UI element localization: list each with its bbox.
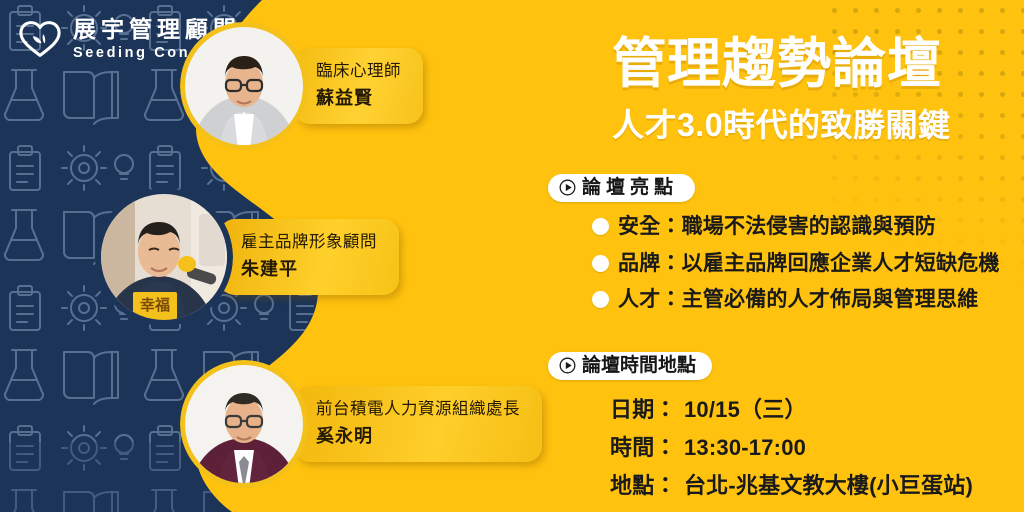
speaker-name-2: 朱建平 — [241, 258, 377, 282]
highlights-list: 安全：職場不法侵害的認識與預防 品牌：以雇主品牌回應企業人才短缺危機 人才：主管… — [548, 211, 1000, 316]
speaker-nameplate-1: 臨床心理師 蘇益賢 — [294, 48, 423, 125]
svg-text:幸福: 幸福 — [140, 296, 170, 314]
title-block: 管理趨勢論壇 人才3.0時代的致勝關鍵 — [612, 36, 1024, 146]
time-label: 時間： — [610, 430, 684, 462]
date-value: 10/15（三） — [684, 392, 807, 424]
highlight-item: 品牌：以雇主品牌回應企業人才短缺危機 — [592, 248, 1000, 280]
page-subtitle: 人才3.0時代的致勝關鍵 — [612, 100, 1024, 146]
highlight-text: 人才：主管必備的人才佈局與管理思維 — [618, 284, 978, 316]
speaker-nameplate-3: 前台積電人力資源組織處長 奚永明 — [294, 386, 542, 463]
venue-label: 地點： — [610, 468, 684, 500]
event-info-list: 日期： 10/15（三） 時間： 13:30-17:00 地點： 台北-兆基文教… — [548, 392, 973, 500]
play-circle-icon — [559, 357, 576, 374]
event-info-row-date: 日期： 10/15（三） — [610, 392, 973, 424]
speaker-photo-2: 幸福 — [95, 188, 233, 326]
speaker-card-3: 前台積電人力資源組織處長 奚永明 — [180, 360, 542, 488]
bullet-dot-icon — [592, 291, 609, 308]
speaker-role-3: 前台積電人力資源組織處長 — [316, 399, 520, 421]
speaker-card-2: 幸福 雇主品牌形象顧問 朱建平 — [95, 188, 399, 326]
speaker-card-1: 臨床心理師 蘇益賢 — [180, 22, 423, 150]
when-where-heading-pill: 論壇時間地點 — [548, 352, 712, 380]
speaker-photo-1 — [180, 22, 308, 150]
event-info-row-venue: 地點： 台北-兆基文教大樓 (小巨蛋站) — [610, 468, 973, 500]
time-value: 13:30-17:00 — [684, 435, 806, 461]
page-title: 管理趨勢論壇 — [612, 36, 1024, 92]
bullet-dot-icon — [592, 218, 609, 235]
speaker-name-3: 奚永明 — [316, 425, 520, 449]
content-column: 管理趨勢論壇 人才3.0時代的致勝關鍵 論壇亮點 安全：職場不法侵害的認識與預防 — [540, 0, 1024, 512]
play-circle-icon — [559, 179, 576, 196]
highlight-item: 安全：職場不法侵害的認識與預防 — [592, 211, 1000, 243]
speaker-name-1: 蘇益賢 — [316, 87, 401, 111]
heart-sprout-icon — [18, 19, 62, 59]
speaker-avatar-3 — [180, 360, 308, 488]
highlights-heading-text: 論壇亮點 — [582, 178, 679, 197]
venue-value: 台北-兆基文教大樓 — [684, 468, 869, 500]
speaker-nameplate-2: 雇主品牌形象顧問 朱建平 — [219, 219, 399, 296]
highlight-item: 人才：主管必備的人才佈局與管理思維 — [592, 284, 1000, 316]
speaker-role-1: 臨床心理師 — [316, 61, 401, 83]
date-label: 日期： — [610, 392, 684, 424]
event-info-row-time: 時間： 13:30-17:00 — [610, 430, 973, 462]
speaker-role-2: 雇主品牌形象顧問 — [241, 232, 377, 254]
speaker-photo-3 — [180, 360, 308, 488]
bullet-dot-icon — [592, 255, 609, 272]
highlight-text: 品牌：以雇主品牌回應企業人才短缺危機 — [618, 248, 1000, 280]
venue-station: (小巨蛋站) — [869, 468, 973, 500]
section-highlights: 論壇亮點 安全：職場不法侵害的認識與預防 品牌：以雇主品牌回應企業人才短缺危機 … — [548, 174, 1000, 321]
when-where-heading-text: 論壇時間地點 — [582, 356, 696, 375]
speaker-avatar-1 — [180, 22, 308, 150]
highlights-heading-pill: 論壇亮點 — [548, 174, 695, 202]
highlight-text: 安全：職場不法侵害的認識與預防 — [618, 211, 936, 243]
speaker-avatar-2: 幸福 — [95, 188, 233, 326]
poster-canvas: 展宇管理顧問 Seeding Consulting — [0, 0, 1024, 512]
section-when-where: 論壇時間地點 日期： 10/15（三） 時間： 13:30-17:00 地點： … — [548, 352, 973, 506]
